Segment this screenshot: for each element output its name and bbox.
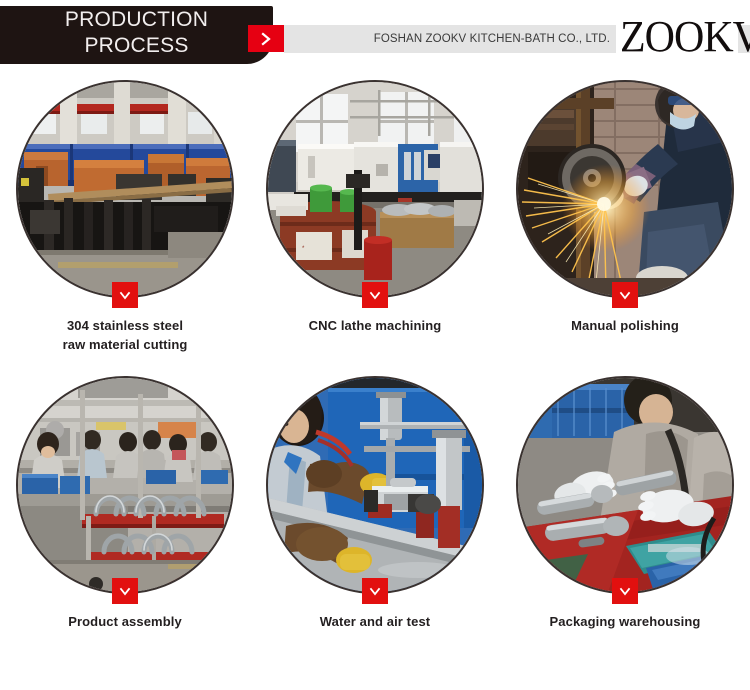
- process-step-1[interactable]: 304 stainless steel raw material cutting: [0, 80, 250, 354]
- process-step-6[interactable]: Packaging warehousing: [500, 376, 750, 631]
- step-image-wrapper: [516, 80, 734, 298]
- page-title: PRODUCTION PROCESS: [0, 7, 273, 59]
- chevron-right-icon: [258, 31, 274, 47]
- header-arrow-button[interactable]: [248, 25, 284, 52]
- step-image-wrapper: [16, 80, 234, 298]
- step-badge: [112, 282, 138, 308]
- step-badge: [612, 578, 638, 604]
- page-header: PRODUCTION PROCESS FOSHAN ZOOKV KITCHEN-…: [0, 0, 750, 72]
- step-image-wrapper: [516, 376, 734, 594]
- process-step-4[interactable]: Product assembly: [0, 376, 250, 631]
- step-caption: Water and air test: [260, 612, 490, 631]
- step-image-circle: [16, 376, 234, 594]
- brand-logo: ZOOKV: [620, 8, 742, 65]
- photo-raw-material-cutting: [18, 82, 232, 296]
- chevron-down-icon: [117, 583, 133, 599]
- company-name: FOSHAN ZOOKV KITCHEN-BATH CO., LTD.: [284, 25, 610, 53]
- chevron-down-icon: [117, 287, 133, 303]
- step-caption: 304 stainless steel raw material cutting: [10, 316, 240, 354]
- row-spacer: [0, 354, 750, 376]
- photo-packaging-warehousing: [518, 378, 732, 592]
- step-image-circle: [516, 376, 734, 594]
- chevron-down-icon: [367, 287, 383, 303]
- step-image-wrapper: [16, 376, 234, 594]
- step-image-circle: [266, 376, 484, 594]
- process-step-5[interactable]: Water and air test: [250, 376, 500, 631]
- step-image-wrapper: *: [266, 80, 484, 298]
- step-image-circle: *: [266, 80, 484, 298]
- step-badge: [612, 282, 638, 308]
- photo-water-and-air-test: [268, 378, 482, 592]
- process-row-2: Product assembly: [0, 376, 750, 631]
- step-image-circle: [16, 80, 234, 298]
- chevron-down-icon: [617, 287, 633, 303]
- production-process-page: PRODUCTION PROCESS FOSHAN ZOOKV KITCHEN-…: [0, 0, 750, 690]
- step-image-wrapper: [266, 376, 484, 594]
- step-badge: [362, 282, 388, 308]
- step-caption: Product assembly: [10, 612, 240, 631]
- photo-manual-polishing: [518, 82, 732, 296]
- step-image-circle: [516, 80, 734, 298]
- photo-cnc-lathe-machining: *: [268, 82, 482, 296]
- step-caption: Packaging warehousing: [510, 612, 740, 631]
- chevron-down-icon: [617, 583, 633, 599]
- process-step-2[interactable]: *: [250, 80, 500, 354]
- step-badge: [112, 578, 138, 604]
- step-caption: CNC lathe machining: [260, 316, 490, 335]
- photo-product-assembly: [18, 378, 232, 592]
- step-badge: [362, 578, 388, 604]
- step-caption: Manual polishing: [510, 316, 740, 335]
- process-steps-grid: 304 stainless steel raw material cutting: [0, 72, 750, 631]
- chevron-down-icon: [367, 583, 383, 599]
- process-step-3[interactable]: Manual polishing: [500, 80, 750, 354]
- process-row-1: 304 stainless steel raw material cutting: [0, 80, 750, 354]
